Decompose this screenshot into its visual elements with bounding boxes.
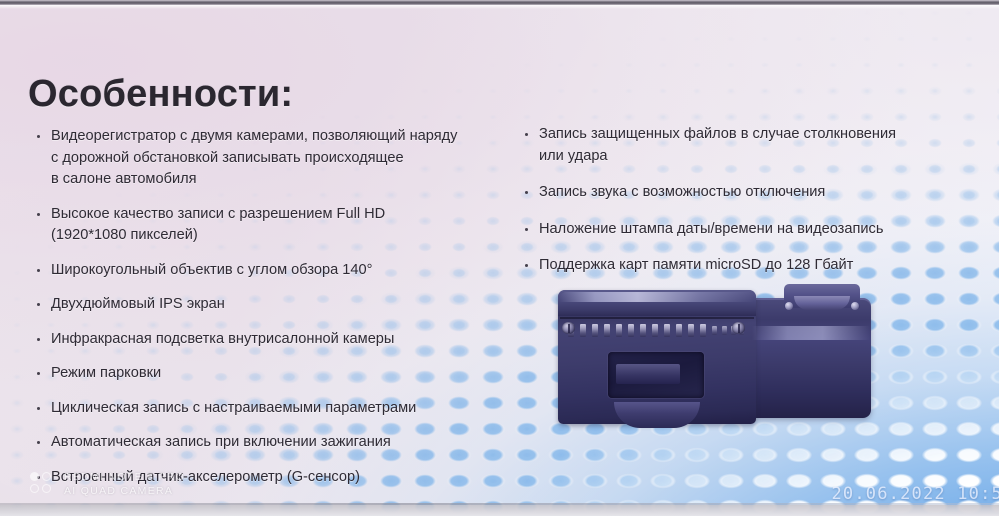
- feature-line: Запись защищенных файлов в случае столкн…: [539, 126, 896, 142]
- watermark-text: REDMI NOTE 8 PRO AI QUAD CAMERA: [64, 470, 185, 498]
- feature-item: Широкоугольный объектив с углом обзора 1…: [34, 260, 504, 282]
- feature-line: Запись звука с возможностью отключения: [539, 184, 825, 200]
- dashcam-seam-line: [560, 317, 754, 319]
- feature-line: Наложение штампа даты/времени на видеоза…: [539, 221, 883, 237]
- dashcam-lens-window-inner: [616, 364, 680, 384]
- page-title: Особенности:: [28, 73, 293, 116]
- dashcam-bolt: [851, 302, 859, 310]
- box-top-edge-highlight: [0, 5, 999, 9]
- feature-item: Автоматическая запись при включении зажи…: [34, 432, 504, 454]
- dashcam-ir-led-array: [568, 324, 746, 337]
- watermark-line-1: REDMI NOTE 8 PRO: [64, 471, 185, 483]
- feature-item: Режим парковки: [34, 363, 504, 385]
- feature-item: Запись защищенных файлов в случае столкн…: [522, 124, 972, 167]
- feature-item: Запись звука с возможностью отключения: [522, 182, 972, 204]
- box-bottom-edge: [0, 505, 999, 516]
- dashcam-bottom-notch: [614, 402, 700, 428]
- camera-watermark: REDMI NOTE 8 PRO AI QUAD CAMERA: [30, 470, 185, 498]
- feature-line: Режим парковки: [51, 365, 161, 381]
- feature-line: Двухдюймовый IPS экран: [51, 296, 225, 312]
- feature-item: Наложение штампа даты/времени на видеоза…: [522, 219, 972, 241]
- feature-line: в салоне автомобиля: [51, 169, 504, 191]
- feature-line: Поддержка карт памяти microSD до 128 Гба…: [539, 257, 853, 273]
- feature-line: Автоматическая запись при включении зажи…: [51, 434, 391, 450]
- quad-camera-icon: [30, 471, 54, 497]
- feature-line: или удара: [539, 146, 972, 168]
- dashcam-product-photo: [546, 276, 878, 446]
- feature-line: Циклическая запись с настраиваемыми пара…: [51, 400, 416, 416]
- date-time-stamp: 20.06.2022 10:5: [831, 484, 999, 504]
- feature-item: Поддержка карт памяти microSD до 128 Гба…: [522, 255, 972, 277]
- feature-line: (1920*1080 пикселей): [51, 225, 504, 247]
- photograph-of-dashcam-packaging: Особенности: Видеорегистратор с двумя ка…: [0, 0, 999, 516]
- dashcam-screw-left: [562, 322, 575, 334]
- dashcam-screw-right: [732, 322, 745, 334]
- feature-item: Инфракрасная подсветка внутрисалонной ка…: [34, 329, 504, 351]
- feature-line: Видеорегистратор с двумя камерами, позво…: [51, 128, 457, 144]
- feature-item: Высокое качество записи с разрешением Fu…: [34, 204, 504, 247]
- dashcam-bolt: [785, 302, 793, 310]
- dashcam-cylinder-body: [751, 298, 871, 418]
- feature-item: Видеорегистратор с двумя камерами, позво…: [34, 126, 504, 191]
- features-column-left: Видеорегистратор с двумя камерами, позво…: [34, 126, 504, 501]
- feature-line: Широкоугольный объектив с углом обзора 1…: [51, 262, 372, 278]
- feature-line: Инфракрасная подсветка внутрисалонной ка…: [51, 331, 394, 347]
- feature-item: Циклическая запись с настраиваемыми пара…: [34, 398, 504, 420]
- feature-line: с дорожной обстановкой записывать происх…: [51, 148, 504, 170]
- dashcam-top-face: [558, 290, 756, 316]
- features-column-right: Запись защищенных файлов в случае столкн…: [522, 124, 972, 292]
- feature-line: Высокое качество записи с разрешением Fu…: [51, 206, 385, 222]
- watermark-line-2: AI QUAD CAMERA: [64, 485, 173, 497]
- dashcam-mount-slot: [794, 296, 850, 310]
- feature-item: Двухдюймовый IPS экран: [34, 294, 504, 316]
